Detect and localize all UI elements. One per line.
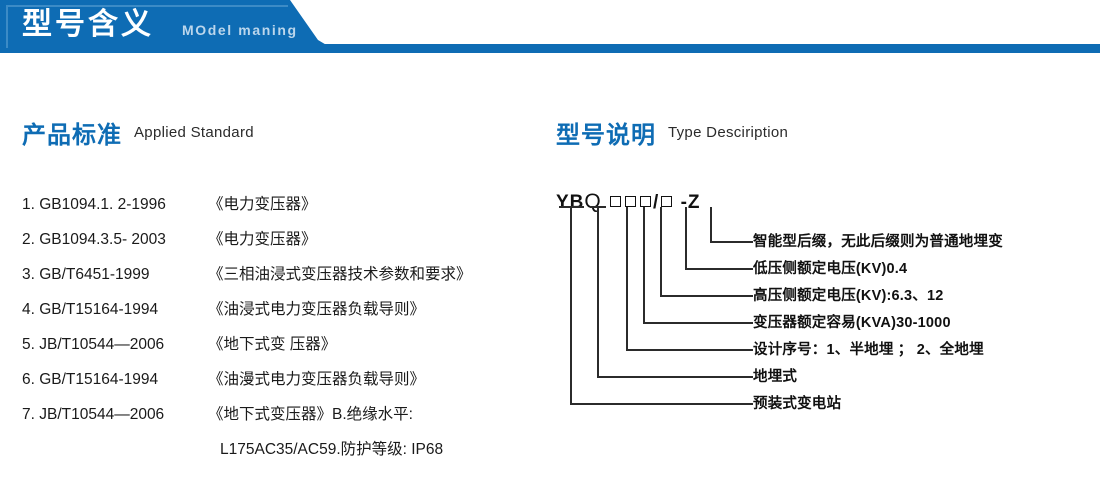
list-item: 2. GB1094.3.5- 2003 《电力变压器》 — [22, 227, 552, 262]
type-label-design-serial: 设计序号：1、半地埋 ； 2、全地埋 — [753, 337, 1083, 364]
standard-code: 1. GB1094.1. 2-1996 — [22, 196, 208, 214]
standard-code: 6. GB/T15164-1994 — [22, 371, 208, 389]
type-description-heading-en: Type Desciription — [668, 124, 788, 141]
standard-code: 4. GB/T15164-1994 — [22, 301, 208, 319]
applied-standard-heading-en: Applied Standard — [134, 124, 254, 141]
page-header-banner: 型号含义 MOdel maning — [0, 0, 1100, 56]
standard-name: 《油漫式电力变压器负载导则》 — [208, 367, 425, 389]
applied-standard-heading-cn: 产品标准 — [22, 122, 122, 149]
standard-name: 《三相油浸式变压器技术参数和要求》 — [208, 262, 472, 284]
list-item: 3. GB/T6451-1999 《三相油浸式变压器技术参数和要求》 — [22, 262, 552, 297]
type-label-rated-capacity: 变压器额定容易(KVA)30-1000 — [753, 310, 1083, 337]
type-description-heading: 型号说明Type Desciription — [556, 115, 788, 150]
list-item: 7. JB/T10544—2006 《地下式变压器》B.绝缘水平: — [22, 402, 552, 437]
type-label-prefab-substation: 预装式变电站 — [753, 391, 1083, 418]
type-description-heading-cn: 型号说明 — [556, 122, 656, 149]
type-label-buried-type: 地埋式 — [753, 364, 1083, 391]
standard-code: 5. JB/T10544—2006 — [22, 336, 208, 354]
applied-standard-heading: 产品标准Applied Standard — [22, 115, 254, 150]
banner-horizontal-rule — [318, 44, 1100, 53]
list-item: 1. GB1094.1. 2-1996 《电力变压器》 — [22, 192, 552, 227]
standard-name-continuation: L175AC35/AC59.防护等级: IP68 — [22, 437, 552, 472]
list-item: 5. JB/T10544—2006 《地下式变 压器》 — [22, 332, 552, 367]
type-label-smart-suffix: 智能型后缀，无此后缀则为普通地埋变 — [753, 229, 1083, 256]
standards-list: 1. GB1094.1. 2-1996 《电力变压器》 2. GB1094.3.… — [22, 192, 552, 472]
standard-code: 3. GB/T6451-1999 — [22, 266, 208, 284]
list-item: 4. GB/T15164-1994 《油浸式电力变压器负载导则》 — [22, 297, 552, 332]
standard-code: 7. JB/T10544—2006 — [22, 406, 208, 424]
standard-name: 《地下式变压器》B.绝缘水平: — [208, 402, 413, 424]
standard-name: 《电力变压器》 — [208, 192, 317, 214]
type-code-diagram: YBQ / -Z 智能型后缀，无此后缀则为普通地埋变 低压侧额定电 — [556, 190, 1076, 440]
standard-name: 《电力变压器》 — [208, 227, 317, 249]
banner-title-chinese: 型号含义 — [22, 7, 154, 43]
list-item: 6. GB/T15164-1994 《油漫式电力变压器负载导则》 — [22, 367, 552, 402]
standard-name: 《地下式变 压器》 — [208, 332, 336, 354]
type-label-hv-voltage: 高压侧额定电压(KV):6.3、12 — [753, 283, 1083, 310]
standard-name: 《油浸式电力变压器负载导则》 — [208, 297, 425, 319]
standard-code: 2. GB1094.3.5- 2003 — [22, 231, 208, 249]
type-label-lv-voltage: 低压侧额定电压(KV)0.4 — [753, 256, 1083, 283]
type-label-column: 智能型后缀，无此后缀则为普通地埋变 低压侧额定电压(KV)0.4 高压侧额定电压… — [753, 229, 1083, 418]
banner-title-english: MOdel maning — [182, 21, 298, 39]
